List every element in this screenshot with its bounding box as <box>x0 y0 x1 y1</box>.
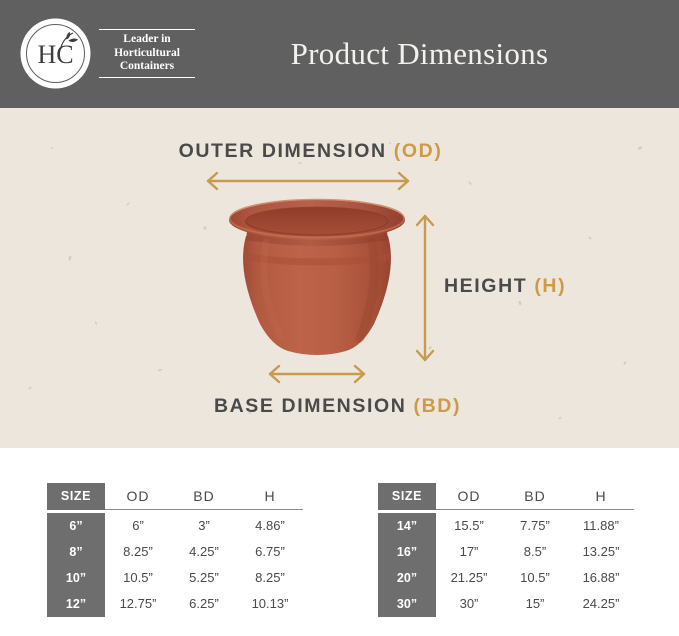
dimensions-table-small: SIZE OD BD H 6” 6” 3” 4.86” 8” 8.25” 4.2… <box>47 483 303 617</box>
cell-h: 10.13” <box>237 591 303 617</box>
cell-h: 6.75” <box>237 539 303 565</box>
column-header-size: SIZE <box>47 483 105 510</box>
column-header-h: H <box>568 483 634 510</box>
column-header-od: OD <box>105 483 171 510</box>
cell-bd: 4.25” <box>171 539 237 565</box>
outer-dimension-abbr: (OD) <box>394 140 443 162</box>
header-bar: Product Dimensions HC Leader in Horticul… <box>0 0 679 108</box>
cell-h: 16.88” <box>568 565 634 591</box>
column-header-size: SIZE <box>378 483 436 510</box>
cell-bd: 6.25” <box>171 591 237 617</box>
tagline-line-3: Containers <box>101 60 193 74</box>
cell-od: 12.75” <box>105 591 171 617</box>
table-row: 20” 21.25” 10.5” 16.88” <box>378 565 634 591</box>
height-arrow-icon <box>412 208 438 368</box>
cell-bd: 3” <box>171 513 237 539</box>
hc-logo-icon: HC <box>22 20 89 87</box>
cell-size: 6” <box>47 513 105 539</box>
cell-od: 21.25” <box>436 565 502 591</box>
cell-size: 8” <box>47 539 105 565</box>
cell-size: 20” <box>378 565 436 591</box>
cell-size: 16” <box>378 539 436 565</box>
cell-od: 6” <box>105 513 171 539</box>
base-dimension-text: BASE DIMENSION <box>214 395 407 417</box>
cell-size: 12” <box>47 591 105 617</box>
tagline-line-1: Leader in <box>101 33 193 47</box>
base-dimension-arrow-icon <box>262 363 372 385</box>
column-header-bd: BD <box>502 483 568 510</box>
outer-dimension-text: OUTER DIMENSION <box>179 140 387 162</box>
cell-od: 8.25” <box>105 539 171 565</box>
cell-size: 10” <box>47 565 105 591</box>
table-row: 30” 30” 15” 24.25” <box>378 591 634 617</box>
cell-od: 30” <box>436 591 502 617</box>
cell-od: 17” <box>436 539 502 565</box>
cell-h: 8.25” <box>237 565 303 591</box>
cell-h: 4.86” <box>237 513 303 539</box>
brand-logo: HC Leader in Horticultural Containers <box>22 20 195 87</box>
column-header-h: H <box>237 483 303 510</box>
cell-od: 10.5” <box>105 565 171 591</box>
tagline-line-2: Horticultural <box>101 47 193 61</box>
column-header-bd: BD <box>171 483 237 510</box>
base-dimension-abbr: (BD) <box>413 395 461 417</box>
leaf-sprig-icon <box>57 31 79 49</box>
cell-od: 15.5” <box>436 513 502 539</box>
base-dimension-label: BASE DIMENSION (BD) <box>0 395 679 418</box>
outer-dimension-label: OUTER DIMENSION (OD) <box>0 140 679 163</box>
table-row: 12” 12.75” 6.25” 10.13” <box>47 591 303 617</box>
height-text: HEIGHT <box>444 275 527 297</box>
cell-bd: 7.75” <box>502 513 568 539</box>
cell-bd: 10.5” <box>502 565 568 591</box>
height-label: HEIGHT (H) <box>444 275 566 298</box>
cell-size: 14” <box>378 513 436 539</box>
cell-size: 30” <box>378 591 436 617</box>
table-row: 10” 10.5” 5.25” 8.25” <box>47 565 303 591</box>
height-abbr: (H) <box>534 275 566 297</box>
table-row: 14” 15.5” 7.75” 11.88” <box>378 513 634 539</box>
table-row: 8” 8.25” 4.25” 6.75” <box>47 539 303 565</box>
cell-h: 24.25” <box>568 591 634 617</box>
column-header-od: OD <box>436 483 502 510</box>
cell-bd: 5.25” <box>171 565 237 591</box>
table-row: 16” 17” 8.5” 13.25” <box>378 539 634 565</box>
table-header-row: SIZE OD BD H <box>378 483 634 510</box>
cell-bd: 15” <box>502 591 568 617</box>
outer-dimension-arrow-icon <box>200 170 416 192</box>
table-header-row: SIZE OD BD H <box>47 483 303 510</box>
dimensions-table-large: SIZE OD BD H 14” 15.5” 7.75” 11.88” 16” … <box>378 483 634 617</box>
cell-h: 11.88” <box>568 513 634 539</box>
logo-tagline: Leader in Horticultural Containers <box>99 29 195 78</box>
cell-h: 13.25” <box>568 539 634 565</box>
cell-bd: 8.5” <box>502 539 568 565</box>
product-dimensions-diagram: OUTER DIMENSION (OD) <box>0 108 679 448</box>
table-row: 6” 6” 3” 4.86” <box>47 513 303 539</box>
plant-pot-illustration <box>222 196 412 368</box>
